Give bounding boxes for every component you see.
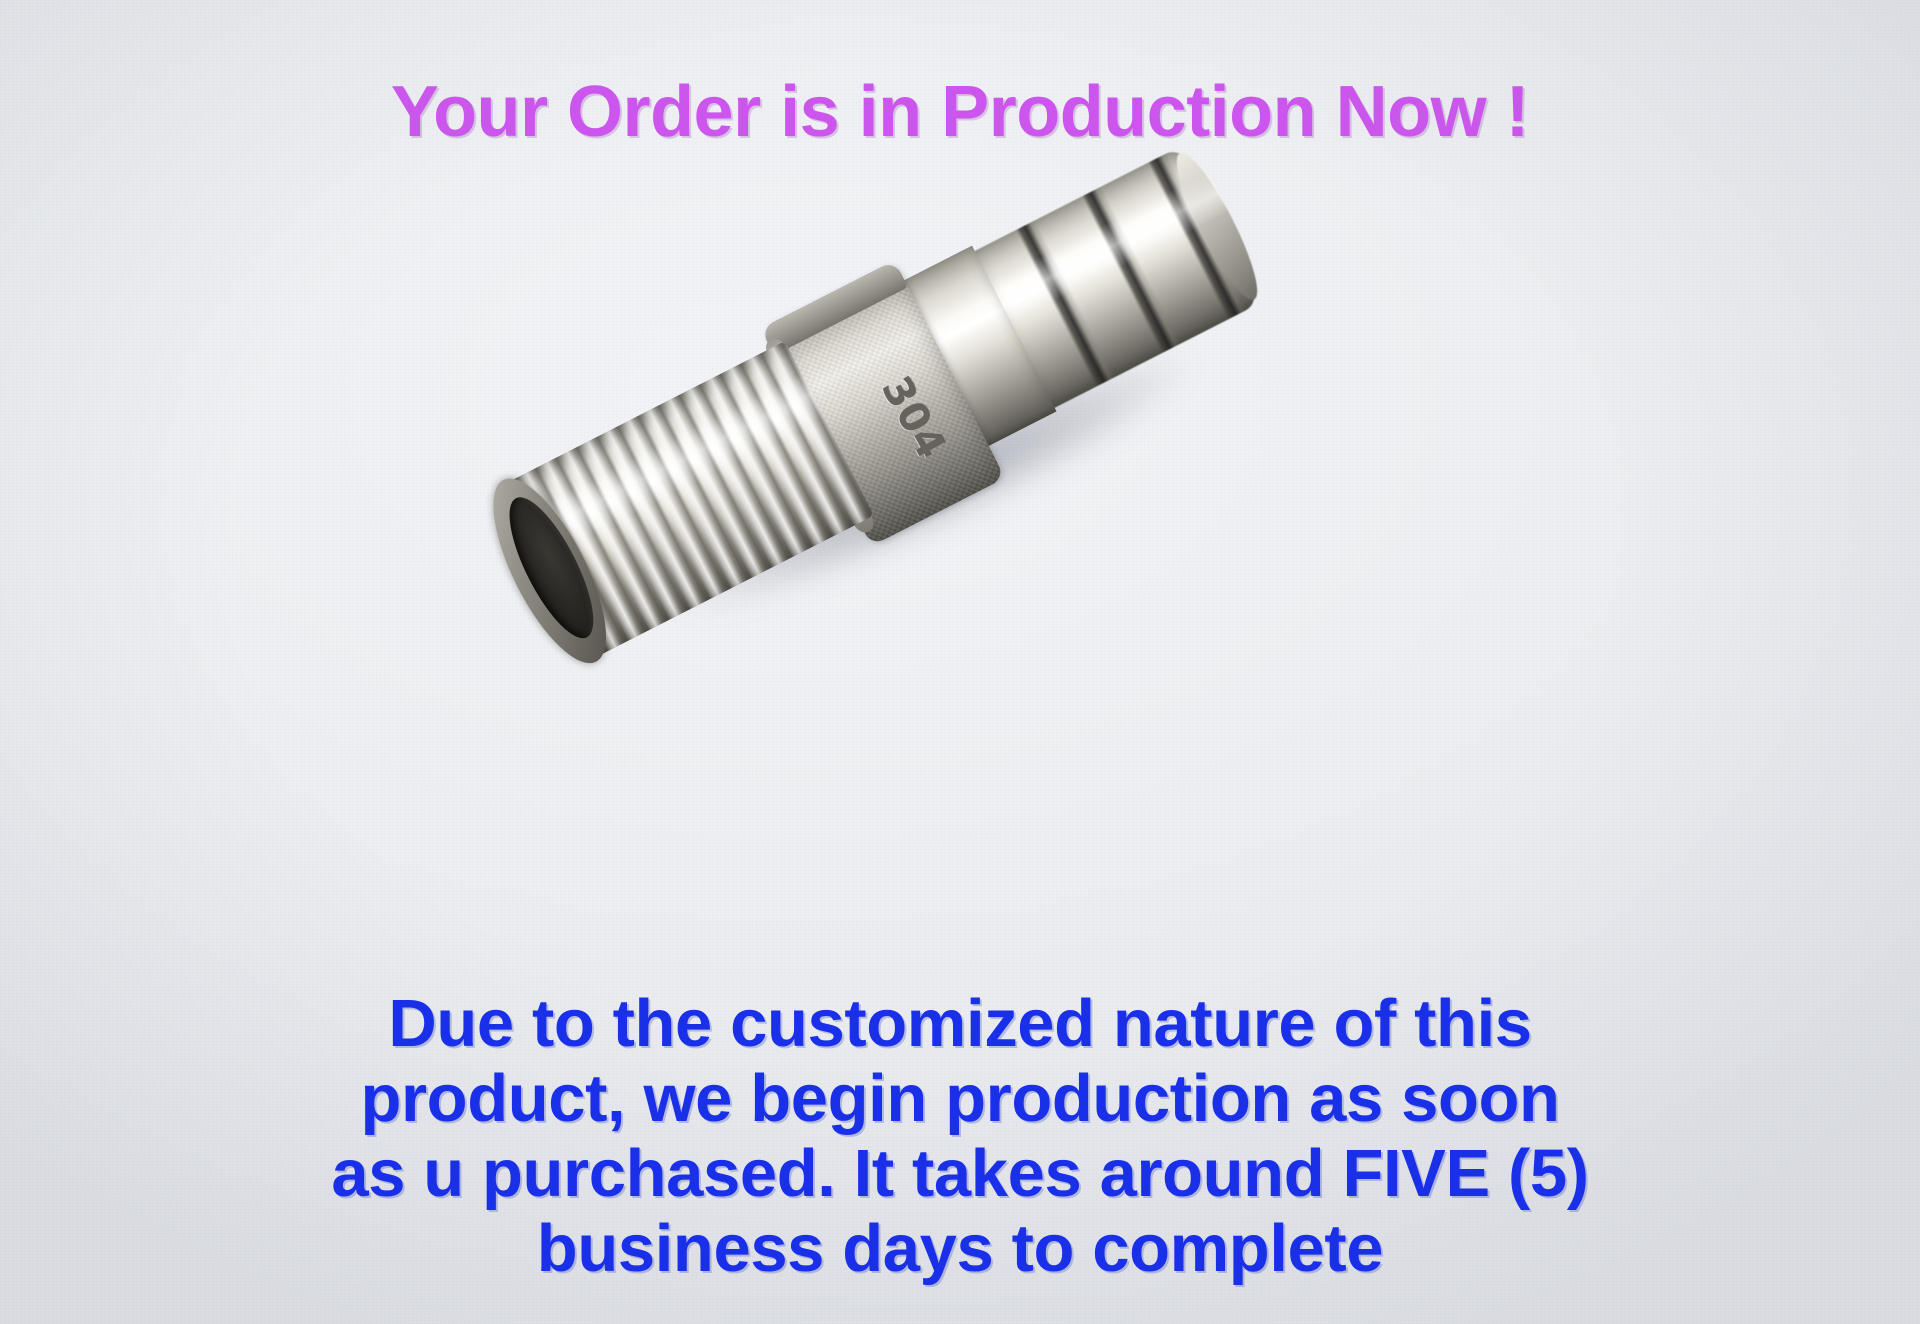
notice-line: Due to the customized nature of this (90, 986, 1830, 1061)
notice-line: product, we begin production as soon (90, 1061, 1830, 1136)
production-notice-text: Due to the customized nature of this pro… (90, 986, 1830, 1286)
notice-line: business days to complete (90, 1211, 1830, 1286)
page-title: Your Order is in Production Now ! (0, 74, 1920, 152)
notice-image-canvas: Your Order is in Production Now ! 304 Du… (0, 0, 1920, 1324)
product-photo: 304 (483, 98, 1337, 751)
notice-line: as u purchased. It takes around FIVE (5) (90, 1136, 1830, 1211)
